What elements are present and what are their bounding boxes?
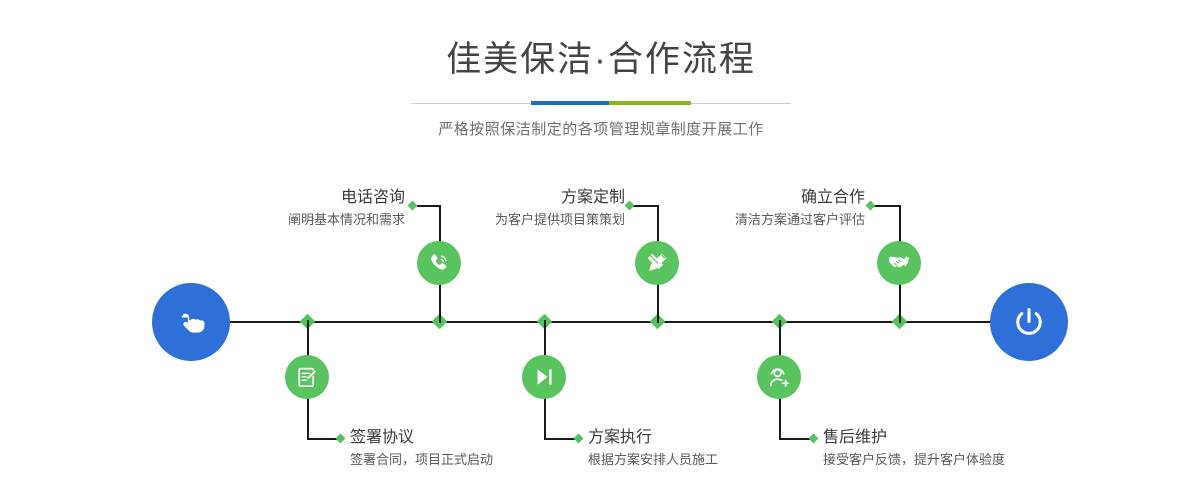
step-icon-2 <box>285 355 329 399</box>
step-desc-3: 为客户提供项目策策划 <box>435 210 625 230</box>
step-desc-4: 根据方案安排人员施工 <box>588 450 818 470</box>
step-label-4: 方案执行 根据方案安排人员施工 <box>588 427 818 470</box>
pencil-ruler-icon <box>644 250 670 276</box>
handshake-icon <box>886 250 912 276</box>
divider-green-segment <box>609 101 691 105</box>
step-icon-6 <box>757 355 801 399</box>
label-diamond-5 <box>866 201 876 211</box>
divider-blue-segment <box>531 101 609 105</box>
label-diamond-3 <box>625 201 635 211</box>
step-label-3: 方案定制 为客户提供项目策策划 <box>435 187 625 230</box>
page-header: 佳美保洁·合作流程 严格按照保洁制定的各项管理规章制度开展工作 <box>0 0 1202 141</box>
step-desc-2: 签署合同，项目正式启动 <box>350 450 580 470</box>
document-edit-icon <box>295 365 320 390</box>
step-label-5: 确立合作 清洁方案通过客户评估 <box>675 187 865 230</box>
power-button-icon <box>1008 301 1050 343</box>
step-title-2: 签署协议 <box>350 427 580 449</box>
step-title-5: 确立合作 <box>675 187 865 209</box>
timeline-start-node <box>152 283 230 361</box>
step-label-1: 电话咨询 阐明基本情况和需求 <box>215 187 405 230</box>
phone-call-icon <box>426 250 452 276</box>
step-desc-1: 阐明基本情况和需求 <box>215 210 405 230</box>
support-agent-add-icon <box>767 365 792 390</box>
step-label-6: 售后维护 接受客户反馈，提升客户体验度 <box>823 427 1083 470</box>
connector-horizontal-3 <box>633 205 659 207</box>
title-divider <box>411 98 791 110</box>
step-title-1: 电话咨询 <box>215 187 405 209</box>
flowchart-page: 佳美保洁·合作流程 严格按照保洁制定的各项管理规章制度开展工作 <box>0 0 1202 502</box>
step-title-4: 方案执行 <box>588 427 818 449</box>
step-label-2: 签署协议 签署合同，项目正式启动 <box>350 427 580 470</box>
step-desc-6: 接受客户反馈，提升客户体验度 <box>823 450 1083 470</box>
play-skip-icon <box>532 365 556 389</box>
step-icon-3 <box>635 241 679 285</box>
step-icon-1 <box>417 241 461 285</box>
pointing-hand-icon <box>171 302 211 342</box>
step-desc-5: 清洁方案通过客户评估 <box>675 210 865 230</box>
timeline-end-node <box>990 283 1068 361</box>
step-title-3: 方案定制 <box>435 187 625 209</box>
connector-horizontal-5 <box>874 205 901 207</box>
label-diamond-1 <box>408 201 418 211</box>
page-subtitle: 严格按照保洁制定的各项管理规章制度开展工作 <box>0 119 1202 141</box>
label-diamond-2 <box>336 434 346 444</box>
step-icon-5 <box>877 241 921 285</box>
step-icon-4 <box>522 355 566 399</box>
page-title: 佳美保洁·合作流程 <box>0 38 1202 82</box>
step-title-6: 售后维护 <box>823 427 1083 449</box>
